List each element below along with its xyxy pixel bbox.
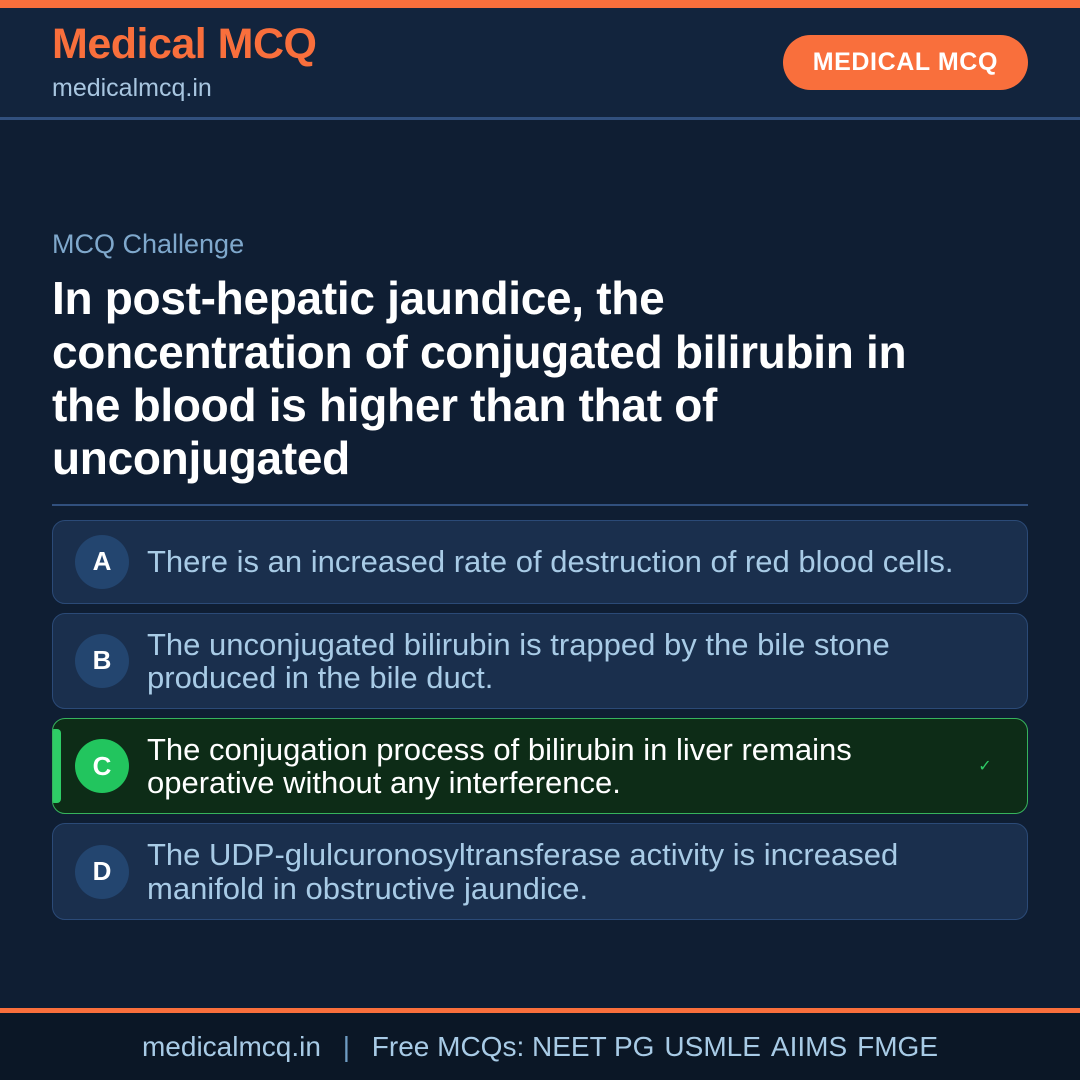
- page-footer: medicalmcq.in | Free MCQs: NEET PGUSMLEA…: [0, 1008, 1080, 1080]
- correct-accent-bar: [53, 729, 61, 803]
- option-letter-badge: A: [75, 535, 129, 589]
- option-text: The unconjugated bilirubin is trapped by…: [147, 628, 963, 694]
- option-letter-badge: B: [75, 634, 129, 688]
- section-divider: [52, 504, 1028, 506]
- option-b[interactable]: B The unconjugated bilirubin is trapped …: [52, 613, 1028, 709]
- brand-title: Medical MCQ: [52, 22, 317, 67]
- exam-usmle: USMLE: [664, 1031, 760, 1062]
- main-content: MCQ Challenge In post-hepatic jaundice, …: [0, 120, 1080, 1008]
- footer-exams: NEET PGUSMLEAIIMSFMGE: [532, 1031, 938, 1062]
- check-icon: ✓: [963, 756, 1007, 776]
- question-text: In post-hepatic jaundice, the concentrat…: [52, 272, 952, 485]
- top-accent-bar: [0, 0, 1080, 8]
- options-list: A There is an increased rate of destruct…: [52, 520, 1028, 920]
- exam-aiims: AIIMS: [771, 1031, 847, 1062]
- brand: Medical MCQ medicalmcq.in: [52, 22, 317, 102]
- option-c[interactable]: C The conjugation process of bilirubin i…: [52, 718, 1028, 814]
- option-d[interactable]: D The UDP-glulcuronosyltransferase activ…: [52, 823, 1028, 919]
- footer-separator: |: [329, 1031, 364, 1062]
- footer-exams-label: Free MCQs:: [372, 1031, 524, 1062]
- header-badge: MEDICAL MCQ: [783, 35, 1028, 90]
- brand-url: medicalmcq.in: [52, 73, 317, 103]
- option-a[interactable]: A There is an increased rate of destruct…: [52, 520, 1028, 604]
- option-text: The conjugation process of bilirubin in …: [147, 733, 963, 799]
- eyebrow-label: MCQ Challenge: [52, 228, 1028, 260]
- mcq-card: Medical MCQ medicalmcq.in MEDICAL MCQ MC…: [0, 0, 1080, 1080]
- footer-text: medicalmcq.in | Free MCQs: NEET PGUSMLEA…: [142, 1031, 938, 1063]
- exam-neet-pg: NEET PG: [532, 1031, 654, 1062]
- option-letter-badge: C: [75, 739, 129, 793]
- option-text: The UDP-glulcuronosyltransferase activit…: [147, 838, 963, 904]
- footer-site: medicalmcq.in: [142, 1031, 321, 1062]
- option-text: There is an increased rate of destructio…: [147, 545, 963, 578]
- option-letter-badge: D: [75, 845, 129, 899]
- exam-fmge: FMGE: [857, 1031, 938, 1062]
- page-header: Medical MCQ medicalmcq.in MEDICAL MCQ: [0, 8, 1080, 120]
